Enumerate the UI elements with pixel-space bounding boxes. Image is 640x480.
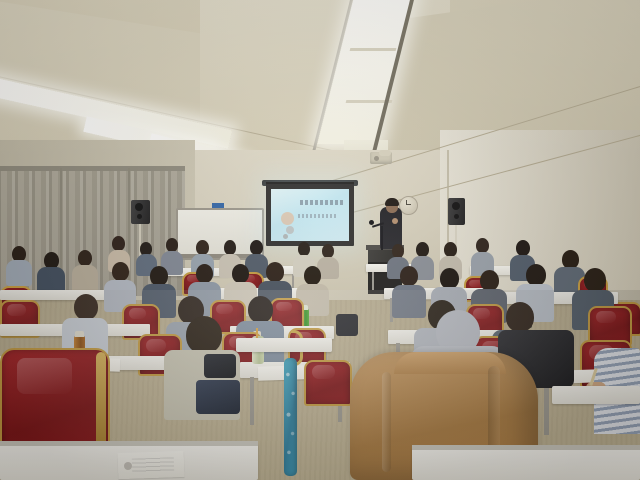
microphone-stand	[381, 226, 383, 250]
attendee-head	[232, 264, 249, 283]
attendee-head	[392, 244, 404, 258]
slide-circle-graphic-1	[281, 212, 294, 225]
smoke-detector-icon	[379, 150, 391, 156]
attendee-head	[112, 236, 125, 251]
attendee-head	[322, 244, 334, 258]
slide-circle-graphic-2	[286, 226, 294, 234]
attendee-head	[250, 240, 263, 255]
ceiling-light-right-divider-1	[350, 48, 397, 51]
attendee-head	[78, 250, 92, 266]
right-speaker-woofer-icon	[452, 202, 460, 210]
attendee-head	[516, 240, 530, 256]
slide-title-line	[300, 200, 344, 205]
slide-subtitle-line	[298, 214, 338, 218]
floor-lighting-falloff	[0, 290, 640, 480]
table-leg	[372, 272, 374, 290]
presenter-body	[380, 207, 402, 249]
attendee-head	[416, 242, 429, 257]
attendee-head	[224, 240, 236, 255]
attendee-body	[72, 265, 98, 293]
attendee-head	[526, 264, 546, 286]
attendee-head	[196, 240, 209, 255]
attendee-body	[6, 260, 32, 286]
left-speaker-tweeter-icon	[137, 214, 142, 219]
attendee-head	[400, 266, 418, 286]
attendee-head	[150, 266, 168, 286]
attendee-head	[298, 242, 310, 256]
right-speaker-tweeter-icon	[454, 214, 459, 219]
attendee-head	[444, 242, 457, 257]
attendee-head	[584, 268, 606, 292]
attendee-head	[112, 262, 129, 281]
slide-title-text: illegible heading text	[271, 189, 272, 190]
attendee-head	[476, 238, 489, 253]
slide-circle-graphic-3	[283, 234, 288, 239]
attendee-head	[480, 270, 499, 291]
attendee-head	[266, 262, 284, 282]
slide-subtitle-text: illegible secondary text	[271, 189, 272, 190]
attendee-head	[166, 238, 178, 252]
whiteboard-blue-accent	[212, 203, 224, 208]
attendee-head	[304, 266, 321, 285]
seminar-room-photo: illegible heading text illegible seconda…	[0, 0, 640, 480]
presenter-hand	[392, 218, 398, 224]
microphone-capsule-icon	[369, 220, 374, 225]
projector-lens-icon	[374, 156, 379, 161]
attendee-head	[440, 268, 459, 289]
left-partition-track	[0, 166, 185, 171]
presenter-hair	[385, 198, 399, 206]
left-speaker-woofer-icon	[135, 203, 143, 211]
clock-minute-hand	[406, 204, 411, 205]
attendee-head	[196, 264, 213, 283]
